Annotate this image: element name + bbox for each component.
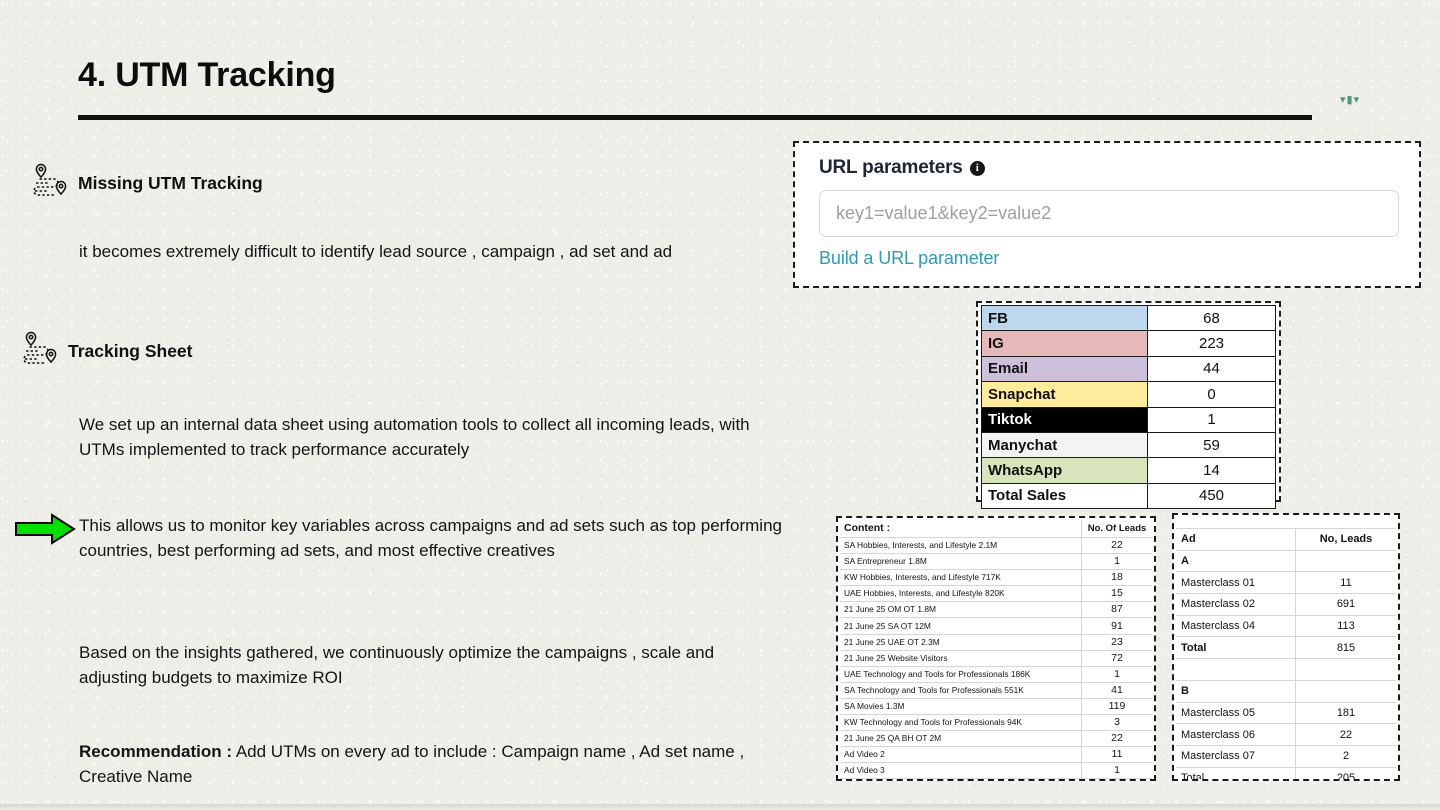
- content-leads: 11: [1082, 747, 1153, 763]
- content-name: KW Technology and Tools for Professional…: [840, 715, 1082, 731]
- ad-leads: 113: [1296, 615, 1397, 637]
- table-row: Ad Video 31: [840, 763, 1152, 779]
- channel-name: IG: [982, 331, 1148, 356]
- spacer-cell: [1176, 659, 1296, 681]
- content-leads: 22: [1082, 538, 1153, 554]
- green-arrow-icon: [14, 513, 76, 545]
- slide-canvas: 4. UTM Tracking ▾▮▾ Missin: [0, 0, 1440, 810]
- ad-name: Total: [1176, 637, 1296, 659]
- ad-leads: 181: [1296, 702, 1397, 724]
- channel-name: Manychat: [982, 432, 1148, 457]
- route-pins-icon: [28, 162, 72, 204]
- ad-leads-table: Ad No, Leads A Masterclass 0111 Mastercl…: [1176, 529, 1396, 781]
- channel-name: Tiktok: [982, 407, 1148, 432]
- channel-name: Email: [982, 356, 1148, 381]
- channel-value: 450: [1148, 483, 1276, 508]
- content-name: SA Hobbies, Interests, and Lifestyle 2.1…: [840, 538, 1082, 554]
- url-parameters-title: URL parameters i: [819, 157, 1399, 179]
- page-title: 4. UTM Tracking: [78, 56, 336, 95]
- channel-sales-table: FB68 IG223 Email44 Snapchat0 Tiktok1 Man…: [981, 305, 1276, 509]
- ad-group-label: B: [1176, 680, 1296, 702]
- table-row: SA Movies 1.3M119: [840, 698, 1152, 714]
- content-name: 21 June 25 Website Visitors: [840, 650, 1082, 666]
- table-row: WhatsApp14: [982, 458, 1276, 483]
- table-row: Total Sales450: [982, 483, 1276, 508]
- ad-group-label: A: [1176, 550, 1296, 572]
- title-divider: [78, 115, 1312, 120]
- table-spacer-row: [1176, 659, 1396, 681]
- content-leads: 22: [1082, 731, 1153, 747]
- content-name: 21 June 25 QA BH OT 2M: [840, 731, 1082, 747]
- ad-leads: 691: [1296, 594, 1397, 616]
- ad-leads: 2: [1296, 745, 1397, 767]
- channel-value: 44: [1148, 356, 1276, 381]
- content-name: SA Movies 1.3M: [840, 698, 1082, 714]
- ad-leads: 22: [1296, 724, 1397, 746]
- table-row: Masterclass 072: [1176, 745, 1396, 767]
- url-parameters-title-text: URL parameters: [819, 157, 963, 179]
- table-row: FB68: [982, 306, 1276, 331]
- section-heading-tracking-sheet: Tracking Sheet: [18, 330, 193, 372]
- ad-group-value: [1296, 550, 1397, 572]
- ad-name: Masterclass 05: [1176, 702, 1296, 724]
- content-leads: 1: [1082, 554, 1153, 570]
- section-heading-label: Tracking Sheet: [68, 341, 193, 362]
- info-icon[interactable]: i: [970, 161, 985, 176]
- content-name: Ad Video 3: [840, 763, 1082, 779]
- group-label-row: B: [1176, 680, 1396, 702]
- channel-value: 14: [1148, 458, 1276, 483]
- url-parameters-input[interactable]: key1=value1&key2=value2: [819, 190, 1399, 237]
- content-name: SA Entrepreneur 1.8M: [840, 554, 1082, 570]
- content-name: 21 June 25 SA OT 12M: [840, 618, 1082, 634]
- content-leads-table: Content : No. Of Leads SA Hobbies, Inter…: [840, 519, 1152, 779]
- column-header-content: Content :: [840, 519, 1082, 538]
- table-row: Email44: [982, 356, 1276, 381]
- content-name: Ad Video 2: [840, 747, 1082, 763]
- table-row: Ad Video 211: [840, 747, 1152, 763]
- content-leads: 1: [1082, 666, 1153, 682]
- ad-table-clipped-row: [1176, 516, 1396, 529]
- content-leads: 41: [1082, 682, 1153, 698]
- paragraph-missing-utm: it becomes extremely difficult to identi…: [79, 239, 755, 264]
- table-row: Masterclass 04113: [1176, 615, 1396, 637]
- channel-name: FB: [982, 306, 1148, 331]
- table-row: Manychat59: [982, 432, 1276, 457]
- table-row: Snapchat0: [982, 382, 1276, 407]
- table-row: Tiktok1: [982, 407, 1276, 432]
- channel-name: WhatsApp: [982, 458, 1148, 483]
- content-leads: 91: [1082, 618, 1153, 634]
- table-row-total: Total205: [1176, 767, 1396, 781]
- channel-value: 223: [1148, 331, 1276, 356]
- ad-leads-table-panel: Ad No, Leads A Masterclass 0111 Mastercl…: [1172, 513, 1400, 781]
- table-row: Masterclass 0111: [1176, 572, 1396, 594]
- column-header-leads: No. Of Leads: [1082, 519, 1153, 538]
- ad-group-value: [1296, 680, 1397, 702]
- table-header-row: Ad No, Leads: [1176, 529, 1396, 550]
- ad-name: Masterclass 06: [1176, 724, 1296, 746]
- column-header-leads: No, Leads: [1296, 529, 1397, 550]
- table-row: SA Entrepreneur 1.8M1: [840, 554, 1152, 570]
- channel-value: 68: [1148, 306, 1276, 331]
- ad-name: Masterclass 01: [1176, 572, 1296, 594]
- paragraph-optimize-campaigns: Based on the insights gathered, we conti…: [79, 640, 779, 690]
- ad-leads-tbody: Ad No, Leads A Masterclass 0111 Mastercl…: [1176, 529, 1396, 781]
- content-name: 21 June 25 OM OT 1.8M: [840, 602, 1082, 618]
- ad-name: Masterclass 04: [1176, 615, 1296, 637]
- content-leads: 72: [1082, 650, 1153, 666]
- table-row: Masterclass 05181: [1176, 702, 1396, 724]
- table-row-total: Total815: [1176, 637, 1396, 659]
- table-row: Masterclass 0622: [1176, 724, 1396, 746]
- content-leads: 15: [1082, 586, 1153, 602]
- route-pins-icon: [18, 330, 62, 372]
- group-label-row: A: [1176, 550, 1396, 572]
- table-row: 21 June 25 OM OT 1.8M87: [840, 602, 1152, 618]
- table-row: SA Hobbies, Interests, and Lifestyle 2.1…: [840, 538, 1152, 554]
- green-artifact: ▾▮▾: [1340, 96, 1366, 105]
- content-name: 21 June 25 UAE OT 2.3M: [840, 634, 1082, 650]
- ad-name: Masterclass 02: [1176, 594, 1296, 616]
- content-leads: 3: [1082, 715, 1153, 731]
- table-row: 21 June 25 Website Visitors72: [840, 650, 1152, 666]
- content-leads: 23: [1082, 634, 1153, 650]
- channel-name: Snapchat: [982, 382, 1148, 407]
- table-row: KW Hobbies, Interests, and Lifestyle 717…: [840, 570, 1152, 586]
- ad-leads: 205: [1296, 767, 1397, 781]
- ad-name: Total: [1176, 767, 1296, 781]
- table-row: UAE Technology and Tools for Professiona…: [840, 666, 1152, 682]
- content-leads: 18: [1082, 570, 1153, 586]
- content-name: UAE Technology and Tools for Professiona…: [840, 666, 1082, 682]
- ad-name: Masterclass 07: [1176, 745, 1296, 767]
- paragraph-monitor-variables: This allows us to monitor key variables …: [79, 513, 785, 563]
- spacer-cell: [1296, 659, 1397, 681]
- content-leads: 119: [1082, 698, 1153, 714]
- channel-value: 59: [1148, 432, 1276, 457]
- ad-leads: 815: [1296, 637, 1397, 659]
- table-row: 21 June 25 SA OT 12M91: [840, 618, 1152, 634]
- paragraph-tracking-sheet: We set up an internal data sheet using a…: [79, 412, 769, 462]
- table-row: 21 June 25 QA BH OT 2M22: [840, 731, 1152, 747]
- channel-name: Total Sales: [982, 483, 1148, 508]
- url-parameters-panel: URL parameters i key1=value1&key2=value2…: [793, 141, 1421, 288]
- build-url-parameter-link[interactable]: Build a URL parameter: [819, 248, 1399, 269]
- content-name: UAE Hobbies, Interests, and Lifestyle 82…: [840, 586, 1082, 602]
- ad-leads: 11: [1296, 572, 1397, 594]
- recommendation-paragraph: Recommendation : Add UTMs on every ad to…: [79, 739, 785, 789]
- content-name: SA Technology and Tools for Professional…: [840, 682, 1082, 698]
- table-row: UAE Hobbies, Interests, and Lifestyle 82…: [840, 586, 1152, 602]
- content-leads: 87: [1082, 602, 1153, 618]
- channel-sales-tbody: FB68 IG223 Email44 Snapchat0 Tiktok1 Man…: [982, 306, 1276, 509]
- table-header-row: Content : No. Of Leads: [840, 519, 1152, 538]
- page-bottom-edge: [0, 804, 1440, 810]
- recommendation-label: Recommendation :: [79, 742, 232, 761]
- table-row: 21 June 25 UAE OT 2.3M23: [840, 634, 1152, 650]
- column-header-ad: Ad: [1176, 529, 1296, 550]
- section-heading-label: Missing UTM Tracking: [78, 173, 263, 194]
- table-row: IG223: [982, 331, 1276, 356]
- table-row: SA Technology and Tools for Professional…: [840, 682, 1152, 698]
- section-heading-missing-utm: Missing UTM Tracking: [28, 162, 263, 204]
- table-row: Masterclass 02691: [1176, 594, 1396, 616]
- content-name: KW Hobbies, Interests, and Lifestyle 717…: [840, 570, 1082, 586]
- channel-value: 0: [1148, 382, 1276, 407]
- table-row: KW Technology and Tools for Professional…: [840, 715, 1152, 731]
- content-leads: 1: [1082, 763, 1153, 779]
- content-leads-table-panel: Content : No. Of Leads SA Hobbies, Inter…: [836, 516, 1156, 781]
- channel-value: 1: [1148, 407, 1276, 432]
- content-leads-tbody: Content : No. Of Leads SA Hobbies, Inter…: [840, 519, 1152, 779]
- channel-sales-table-panel: FB68 IG223 Email44 Snapchat0 Tiktok1 Man…: [976, 301, 1281, 502]
